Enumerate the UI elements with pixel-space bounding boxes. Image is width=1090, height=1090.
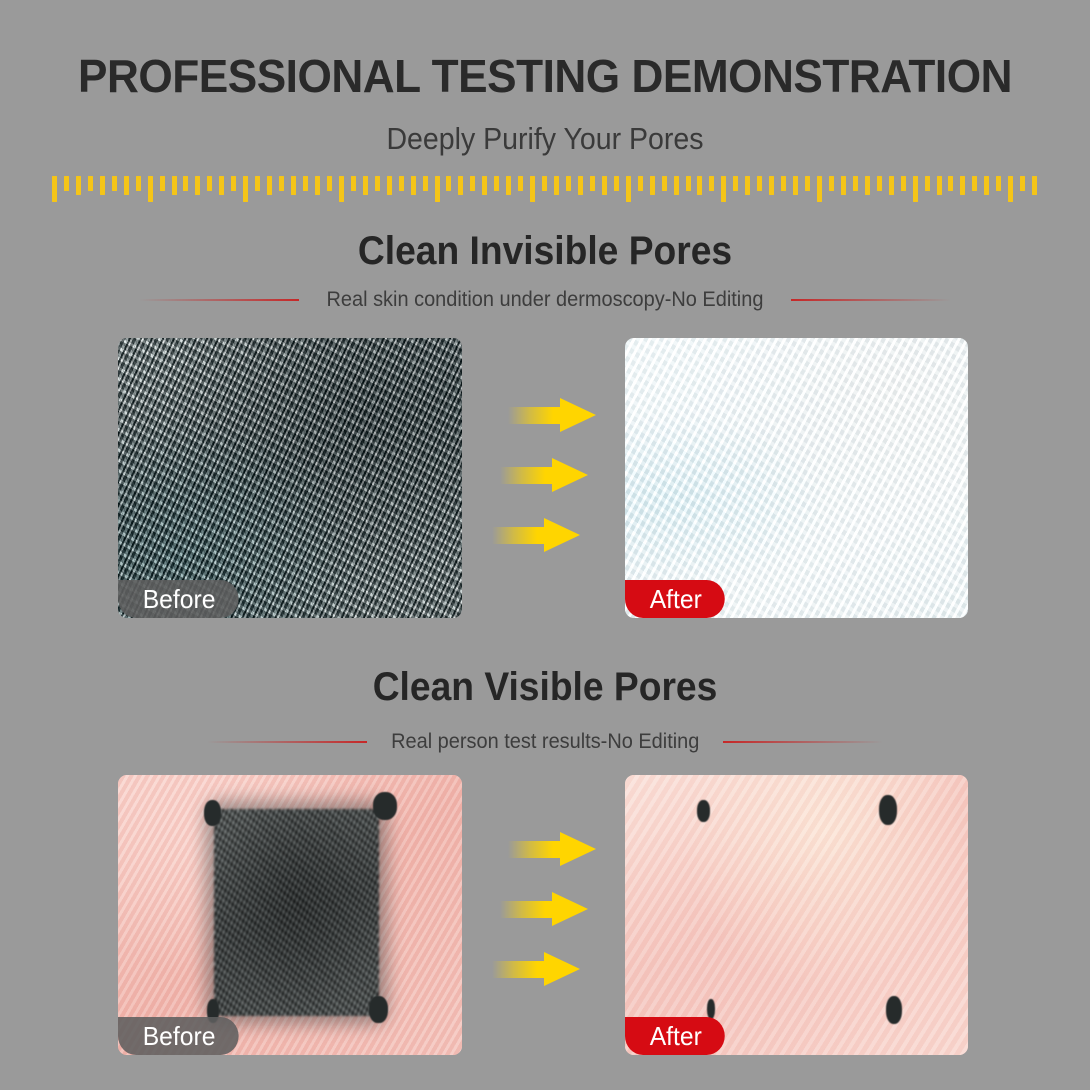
skin-speck bbox=[204, 800, 221, 826]
ruler-tick bbox=[363, 176, 368, 195]
section-heading-visible-pores: Clean Visible Pores bbox=[38, 662, 1052, 712]
ruler-tick bbox=[889, 176, 894, 195]
ruler-tick bbox=[602, 176, 607, 195]
ruler-tick bbox=[721, 176, 726, 202]
ruler-tick bbox=[590, 176, 595, 191]
arrow-right-icon bbox=[508, 398, 596, 432]
before-photo-invisible-pores[interactable]: Before bbox=[118, 338, 462, 618]
ruler-tick bbox=[614, 176, 619, 191]
ruler-tick bbox=[231, 176, 236, 191]
ruler-tick bbox=[841, 176, 846, 195]
ruler-tick bbox=[219, 176, 224, 195]
ruler-tick bbox=[650, 176, 655, 195]
ruler-tick bbox=[638, 176, 643, 191]
skin-speck bbox=[373, 792, 397, 820]
ruler-tick bbox=[291, 176, 296, 195]
ruler-tick bbox=[112, 176, 117, 191]
ruler-tick bbox=[817, 176, 822, 202]
arrow-right-icon bbox=[508, 832, 596, 866]
ruler-tick bbox=[1032, 176, 1037, 195]
skin-speck bbox=[886, 996, 902, 1024]
ruler-tick bbox=[243, 176, 248, 202]
ruler-tick bbox=[100, 176, 105, 195]
ruler-tick bbox=[518, 176, 523, 191]
ruler-tick bbox=[303, 176, 308, 191]
skin-before-texture bbox=[118, 775, 462, 1055]
skin-speck bbox=[707, 999, 715, 1019]
ruler-tick bbox=[172, 176, 177, 195]
ruler-tick bbox=[674, 176, 679, 195]
ruler-tick bbox=[327, 176, 332, 191]
ruler-tick bbox=[745, 176, 750, 195]
after-photo-visible-pores[interactable]: After bbox=[625, 775, 968, 1055]
transition-arrows-visible-pores bbox=[508, 832, 596, 986]
ruler-tick bbox=[901, 176, 906, 191]
ruler-tick bbox=[960, 176, 965, 195]
ruler-tick bbox=[435, 176, 440, 202]
caption-rule-right-icon bbox=[791, 299, 951, 301]
skin-speck bbox=[879, 795, 897, 825]
ruler-tick bbox=[183, 176, 188, 191]
ruler-tick bbox=[255, 176, 260, 191]
ruler-tick bbox=[64, 176, 69, 191]
ruler-tick bbox=[709, 176, 714, 191]
ruler-tick bbox=[339, 176, 344, 202]
ruler-tick bbox=[1020, 176, 1025, 191]
ruler-tick bbox=[733, 176, 738, 191]
ruler-tick bbox=[853, 176, 858, 191]
ruler-tick bbox=[769, 176, 774, 195]
ruler-tick bbox=[315, 176, 320, 195]
ruler-tick bbox=[542, 176, 547, 191]
ruler-tick bbox=[136, 176, 141, 191]
ruler-tick bbox=[375, 176, 380, 191]
ruler-tick bbox=[267, 176, 272, 195]
arrow-right-icon bbox=[492, 952, 580, 986]
infographic-page: PROFESSIONAL TESTING DEMONSTRATION Deepl… bbox=[0, 0, 1090, 1090]
ruler-tick bbox=[865, 176, 870, 195]
before-badge: Before bbox=[118, 580, 238, 618]
skin-after-texture bbox=[625, 775, 968, 1055]
after-badge: After bbox=[625, 1017, 725, 1055]
ruler-tick bbox=[1008, 176, 1013, 202]
page-title: PROFESSIONAL TESTING DEMONSTRATION bbox=[22, 48, 1068, 104]
section-caption-invisible-pores: Real skin condition under dermoscopy-No … bbox=[0, 288, 1090, 312]
ruler-tick bbox=[160, 176, 165, 191]
ruler-tick bbox=[446, 176, 451, 191]
ruler-tick bbox=[399, 176, 404, 191]
ruler-tick bbox=[662, 176, 667, 191]
caption-text: Real person test results-No Editing bbox=[391, 730, 699, 754]
ruler-tick bbox=[793, 176, 798, 195]
section-caption-visible-pores: Real person test results-No Editing bbox=[0, 730, 1090, 754]
after-photo-invisible-pores[interactable]: After bbox=[625, 338, 968, 618]
ruler-divider bbox=[52, 176, 1038, 202]
arrow-right-icon bbox=[492, 518, 580, 552]
skin-speck bbox=[697, 800, 710, 822]
page-subtitle: Deeply Purify Your Pores bbox=[44, 118, 1047, 160]
ruler-tick bbox=[757, 176, 762, 191]
ruler-tick bbox=[494, 176, 499, 191]
caption-rule-left-icon bbox=[139, 299, 299, 301]
ruler-tick bbox=[805, 176, 810, 191]
caption-rule-left-icon bbox=[207, 741, 367, 743]
ruler-tick bbox=[506, 176, 511, 195]
pore-strip-residue-patch bbox=[214, 809, 379, 1016]
caption-text: Real skin condition under dermoscopy-No … bbox=[327, 288, 764, 312]
ruler-tick bbox=[972, 176, 977, 191]
ruler-tick bbox=[279, 176, 284, 191]
ruler-tick bbox=[88, 176, 93, 191]
ruler-tick bbox=[829, 176, 834, 191]
ruler-tick bbox=[411, 176, 416, 195]
ruler-tick bbox=[877, 176, 882, 191]
ruler-tick bbox=[686, 176, 691, 191]
ruler-tick bbox=[148, 176, 153, 202]
ruler-tick bbox=[124, 176, 129, 195]
ruler-tick bbox=[470, 176, 475, 191]
ruler-tick bbox=[697, 176, 702, 195]
caption-rule-right-icon bbox=[723, 741, 883, 743]
before-photo-visible-pores[interactable]: Before bbox=[118, 775, 462, 1055]
ruler-tick bbox=[781, 176, 786, 191]
arrow-right-icon bbox=[500, 892, 588, 926]
ruler-tick bbox=[423, 176, 428, 191]
ruler-tick bbox=[996, 176, 1001, 191]
ruler-tick bbox=[937, 176, 942, 195]
ruler-tick bbox=[482, 176, 487, 195]
ruler-tick bbox=[387, 176, 392, 195]
before-badge: Before bbox=[118, 1017, 238, 1055]
ruler-tick bbox=[578, 176, 583, 195]
transition-arrows-invisible-pores bbox=[508, 398, 596, 552]
ruler-tick bbox=[207, 176, 212, 191]
after-badge: After bbox=[625, 580, 725, 618]
dermoscopy-after-texture bbox=[625, 338, 968, 618]
ruler-tick bbox=[948, 176, 953, 191]
ruler-tick bbox=[566, 176, 571, 191]
ruler-tick bbox=[925, 176, 930, 191]
ruler-tick bbox=[554, 176, 559, 195]
arrow-right-icon bbox=[500, 458, 588, 492]
section-heading-invisible-pores: Clean Invisible Pores bbox=[38, 226, 1052, 276]
ruler-tick bbox=[351, 176, 356, 191]
ruler-tick bbox=[76, 176, 81, 195]
ruler-tick bbox=[626, 176, 631, 202]
skin-speck bbox=[369, 996, 388, 1023]
dermoscopy-before-texture bbox=[118, 338, 462, 618]
ruler-tick bbox=[984, 176, 989, 195]
ruler-tick bbox=[195, 176, 200, 195]
ruler-tick bbox=[530, 176, 535, 202]
ruler-tick bbox=[458, 176, 463, 195]
ruler-tick bbox=[913, 176, 918, 202]
ruler-tick bbox=[52, 176, 57, 202]
